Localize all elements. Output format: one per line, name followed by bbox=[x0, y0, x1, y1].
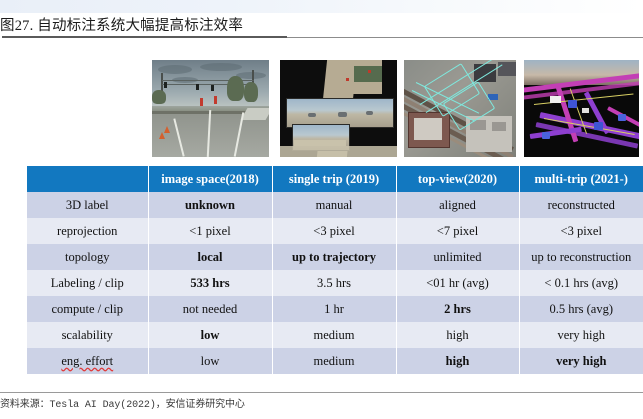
cell-3d-label-multi-trip: reconstructed bbox=[519, 192, 643, 218]
table-header-multi-trip: multi-trip (2021-) bbox=[519, 166, 643, 192]
table-row: Labeling / clip 533 hrs 3.5 hrs <01 hr (… bbox=[27, 270, 643, 296]
table-header-top-view: top-view(2020) bbox=[396, 166, 519, 192]
cell-eng-effort-multi-trip: very high bbox=[519, 348, 643, 374]
cell-topology-image-space: local bbox=[148, 244, 272, 270]
cell-scalability-single-trip: medium bbox=[272, 322, 396, 348]
figure-title: 图27. 自动标注系统大幅提高标注效率 bbox=[0, 16, 643, 36]
cell-labeling-image-space: 533 hrs bbox=[148, 270, 272, 296]
cell-eng-effort-image-space: low bbox=[148, 348, 272, 374]
table-header-row: image space(2018) single trip (2019) top… bbox=[27, 166, 643, 192]
row-label-compute-per-clip: compute / clip bbox=[27, 296, 148, 322]
table-header-corner bbox=[27, 166, 148, 192]
footer-divider bbox=[0, 392, 643, 393]
dashcam-road-scene-thumbnail bbox=[152, 60, 269, 157]
row-label-3d-label: 3D label bbox=[27, 192, 148, 218]
cell-scalability-multi-trip: very high bbox=[519, 322, 643, 348]
cell-3d-label-image-space: unknown bbox=[148, 192, 272, 218]
cell-reprojection-top-view: <7 pixel bbox=[396, 218, 519, 244]
cell-3d-label-top-view: aligned bbox=[396, 192, 519, 218]
title-underline-thick bbox=[2, 36, 287, 38]
table-row: eng. effort low medium high very high bbox=[27, 348, 643, 374]
page-top-gradient-band bbox=[0, 0, 643, 13]
cell-labeling-top-view: <01 hr (avg) bbox=[396, 270, 519, 296]
cell-3d-label-single-trip: manual bbox=[272, 192, 396, 218]
aerial-top-view-thumbnail bbox=[404, 60, 516, 157]
table-row: scalability low medium high very high bbox=[27, 322, 643, 348]
row-label-reprojection: reprojection bbox=[27, 218, 148, 244]
cell-scalability-image-space: low bbox=[148, 322, 272, 348]
thumbnail-strip bbox=[152, 60, 639, 157]
table-header-single-trip: single trip (2019) bbox=[272, 166, 396, 192]
row-label-labeling-per-clip: Labeling / clip bbox=[27, 270, 148, 296]
row-label-topology: topology bbox=[27, 244, 148, 270]
comparison-table: image space(2018) single trip (2019) top… bbox=[27, 166, 643, 374]
cell-labeling-multi-trip: < 0.1 hrs (avg) bbox=[519, 270, 643, 296]
table-row: reprojection <1 pixel <3 pixel <7 pixel … bbox=[27, 218, 643, 244]
cell-eng-effort-top-view: high bbox=[396, 348, 519, 374]
row-label-eng-effort: eng. effort bbox=[27, 348, 148, 374]
cell-topology-top-view: unlimited bbox=[396, 244, 519, 270]
cell-scalability-top-view: high bbox=[396, 322, 519, 348]
multi-trip-reconstruction-thumbnail bbox=[524, 60, 639, 157]
cell-compute-single-trip: 1 hr bbox=[272, 296, 396, 322]
figure-source-note: 资料来源：Tesla AI Day(2022)，安信证券研究中心 bbox=[0, 396, 643, 416]
row-label-scalability: scalability bbox=[27, 322, 148, 348]
table-row: compute / clip not needed 1 hr 2 hrs 0.5… bbox=[27, 296, 643, 322]
cell-reprojection-single-trip: <3 pixel bbox=[272, 218, 396, 244]
table-row: topology local up to trajectory unlimite… bbox=[27, 244, 643, 270]
cell-labeling-single-trip: 3.5 hrs bbox=[272, 270, 396, 296]
cell-compute-image-space: not needed bbox=[148, 296, 272, 322]
cell-reprojection-multi-trip: <3 pixel bbox=[519, 218, 643, 244]
cell-compute-multi-trip: 0.5 hrs (avg) bbox=[519, 296, 643, 322]
cell-eng-effort-single-trip: medium bbox=[272, 348, 396, 374]
table-row: 3D label unknown manual aligned reconstr… bbox=[27, 192, 643, 218]
title-underline-thin bbox=[287, 37, 643, 38]
cell-compute-top-view: 2 hrs bbox=[396, 296, 519, 322]
cell-topology-single-trip: up to trajectory bbox=[272, 244, 396, 270]
cell-reprojection-image-space: <1 pixel bbox=[148, 218, 272, 244]
table-header-image-space: image space(2018) bbox=[148, 166, 272, 192]
single-trip-composite-thumbnail bbox=[280, 60, 397, 157]
cell-topology-multi-trip: up to reconstruction bbox=[519, 244, 643, 270]
